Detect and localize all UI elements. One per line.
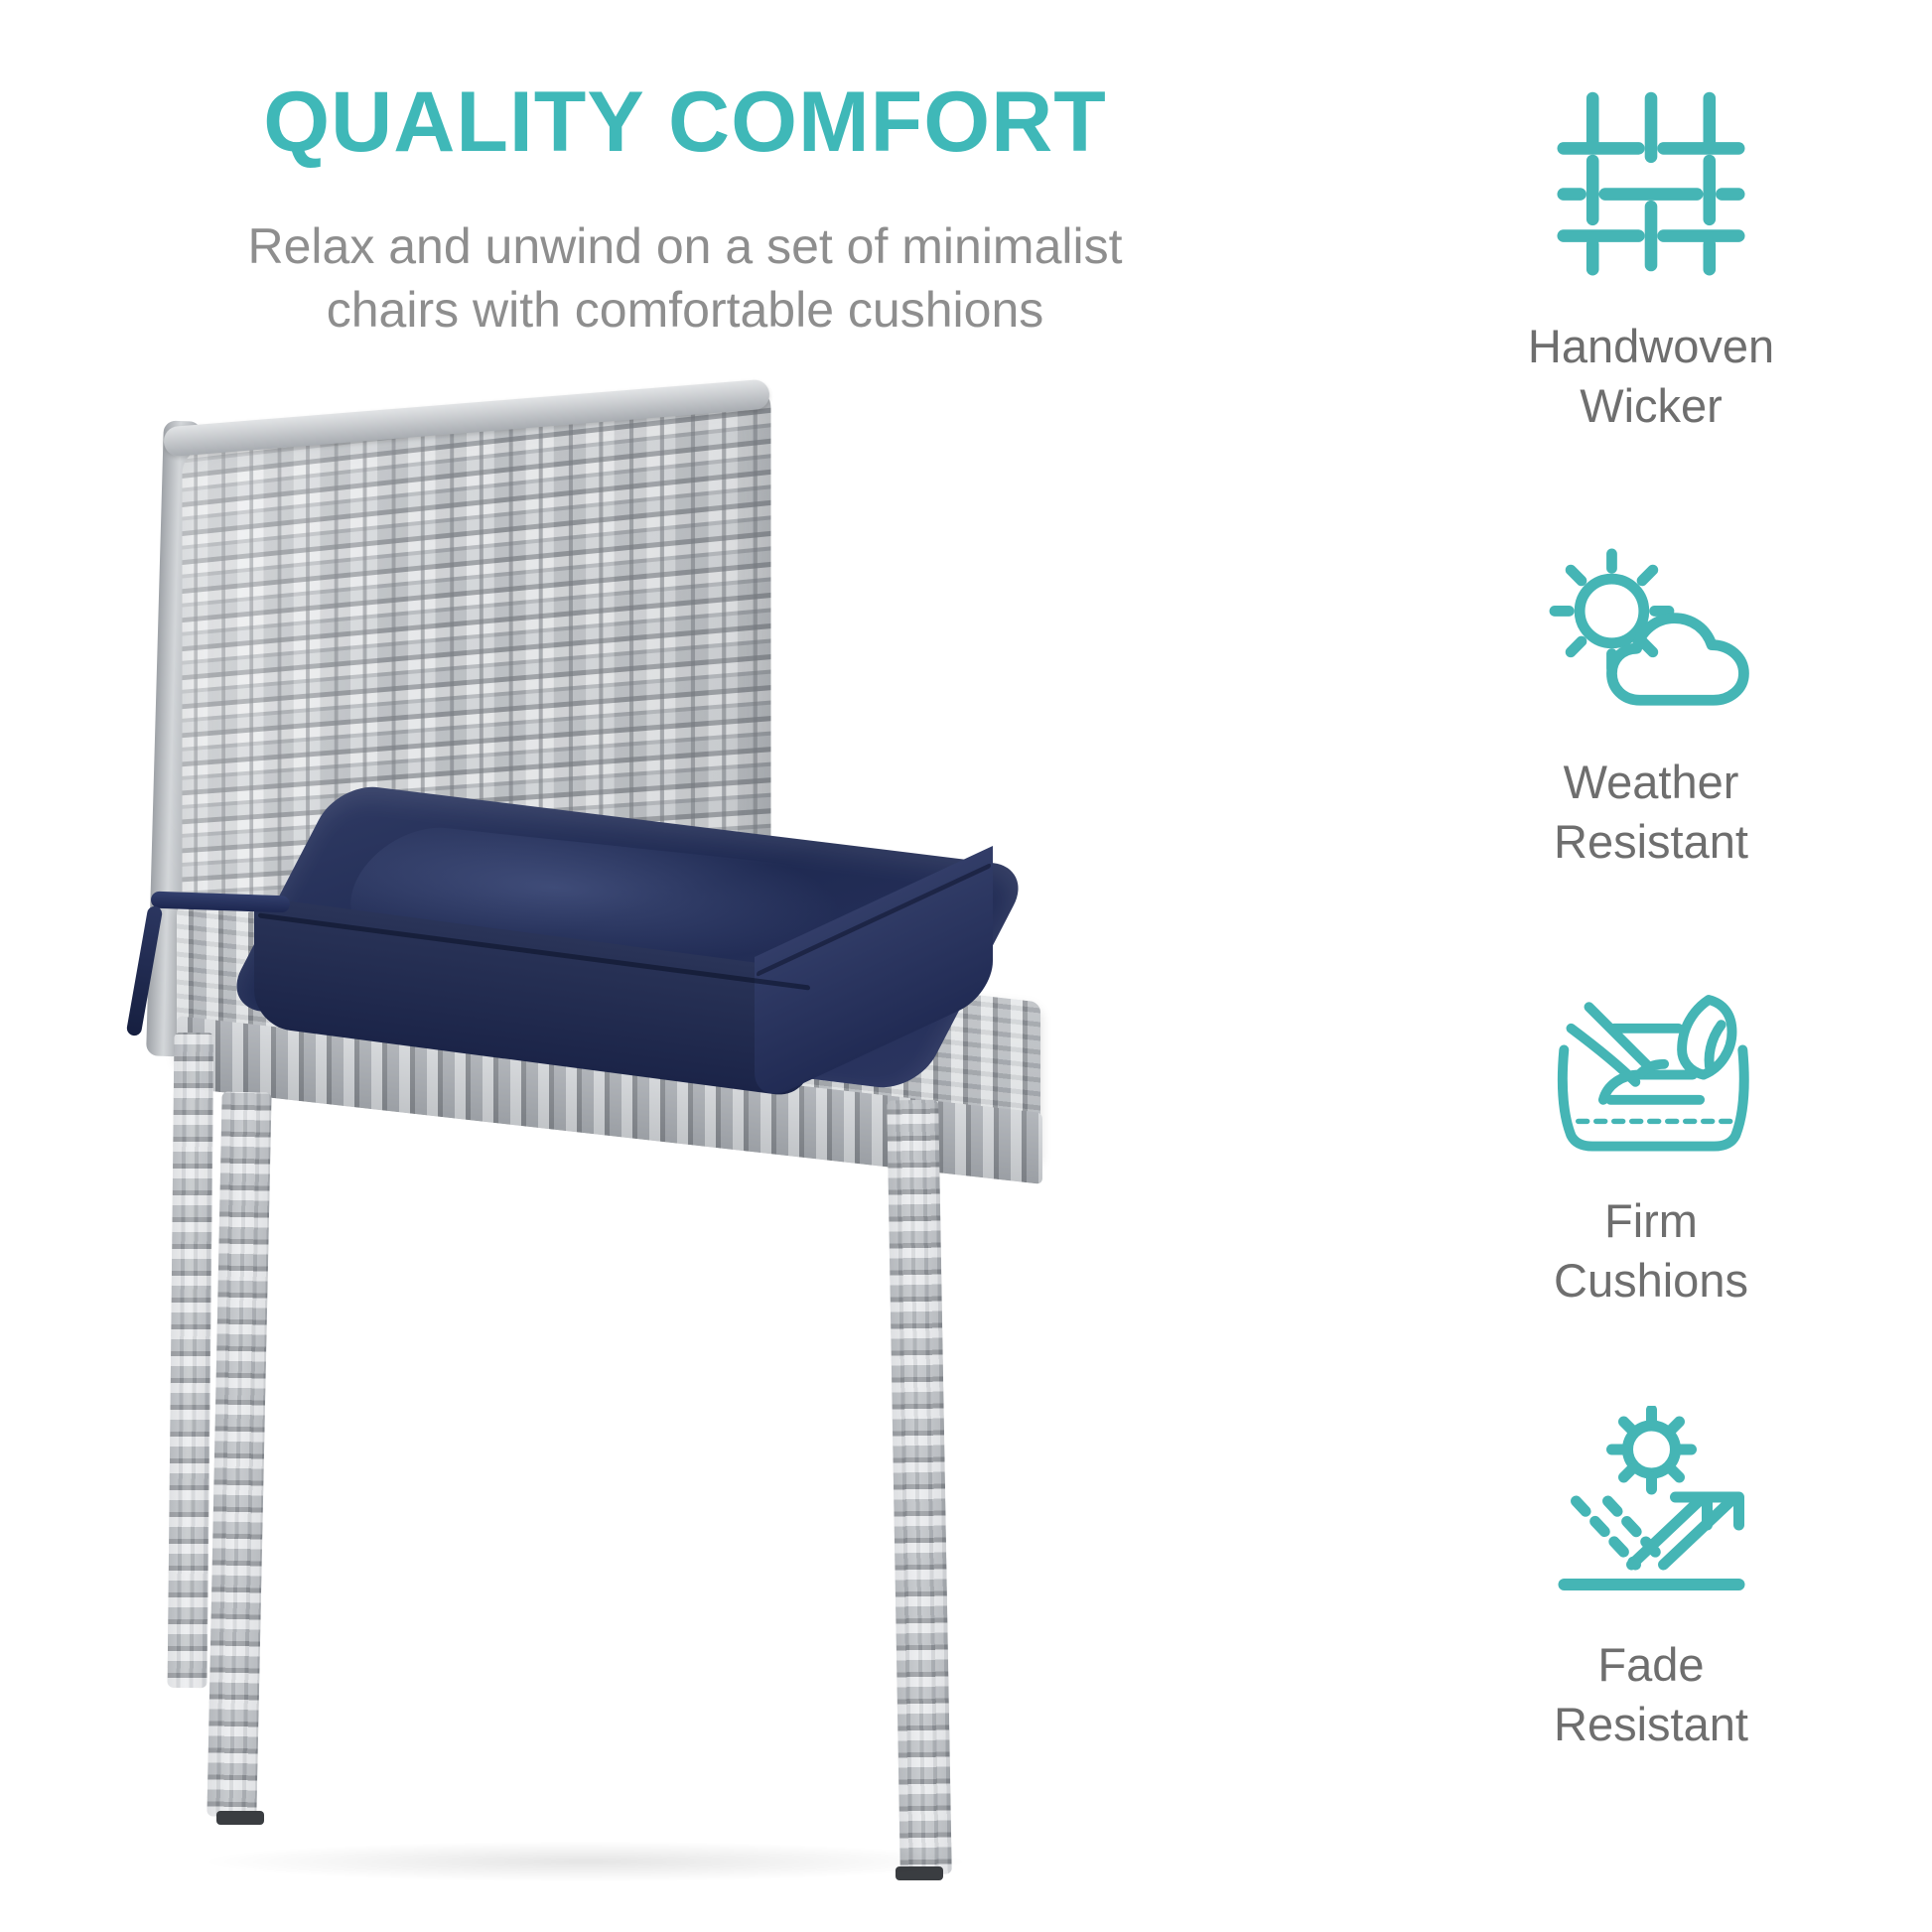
feature-handwoven-wicker: Handwoven Wicker xyxy=(1370,77,1932,436)
feature-firm-cushions: Firm Cushions xyxy=(1370,982,1932,1311)
feature-weather-resistant: Weather Resistant xyxy=(1370,543,1932,872)
chair-leg-back-left xyxy=(168,1033,214,1688)
sun-reflect-icon xyxy=(1540,1406,1763,1609)
feature-label-line-1: Handwoven xyxy=(1528,320,1774,372)
subtitle-line-1: Relax and unwind on a set of minimalist xyxy=(247,218,1122,274)
feature-label-fade-resistant: Fade Resistant xyxy=(1554,1635,1748,1754)
chair-leg-front-right xyxy=(887,1100,952,1875)
feature-fade-resistant: Fade Resistant xyxy=(1370,1406,1932,1754)
feature-label-line-2: Resistant xyxy=(1554,1698,1748,1750)
product-drop-shadow xyxy=(208,1842,963,1881)
sun-cloud-icon xyxy=(1537,543,1765,727)
feature-label-line-2: Resistant xyxy=(1554,815,1748,868)
feature-label-firm-cushions: Firm Cushions xyxy=(1554,1191,1748,1311)
woven-wicker-icon xyxy=(1547,77,1755,291)
feature-label-line-1: Fade xyxy=(1597,1638,1704,1691)
hand-press-cushion-icon xyxy=(1535,982,1768,1166)
feature-label-line-1: Weather xyxy=(1564,756,1739,808)
feature-label-handwoven-wicker: Handwoven Wicker xyxy=(1528,317,1774,436)
chair-foot-cap-left xyxy=(216,1811,264,1825)
product-photo-wicker-chair xyxy=(60,397,1340,1906)
page-title: QUALITY COMFORT xyxy=(40,77,1330,167)
feature-label-line-1: Firm xyxy=(1604,1194,1698,1247)
feature-label-line-2: Wicker xyxy=(1580,379,1723,432)
page-subtitle: Relax and unwind on a set of minimalist … xyxy=(40,214,1330,342)
subtitle-line-2: chairs with comfortable cushions xyxy=(40,278,1330,342)
feature-label-weather-resistant: Weather Resistant xyxy=(1554,753,1748,872)
infographic-page: QUALITY COMFORT Relax and unwind on a se… xyxy=(0,0,1932,1932)
chair-leg-front-left xyxy=(207,1092,271,1818)
feature-list: Handwoven Wicker xyxy=(1370,60,1932,1932)
feature-label-line-2: Cushions xyxy=(1554,1254,1748,1307)
